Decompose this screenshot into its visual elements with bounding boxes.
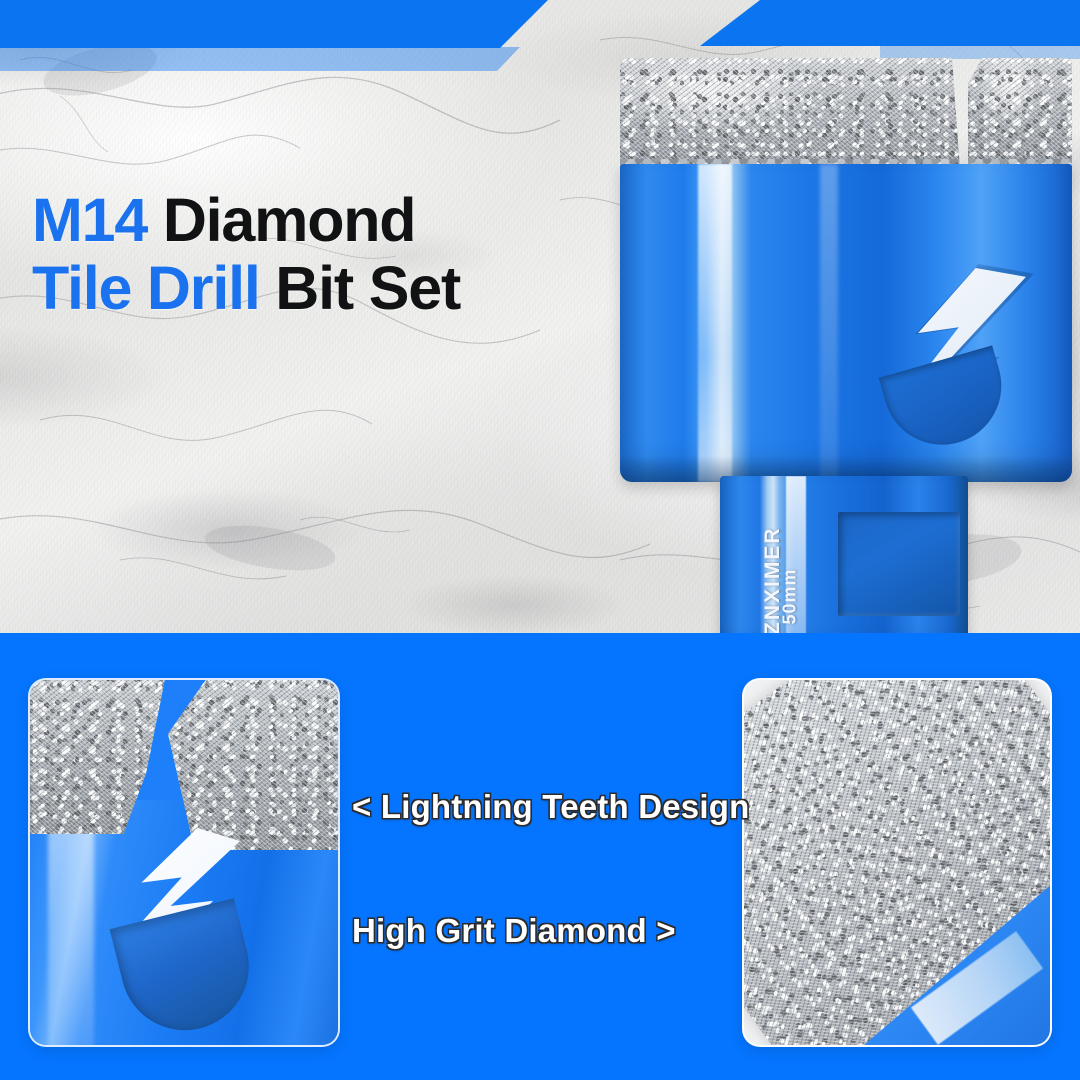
top-banner-left (0, 0, 548, 48)
size-label: 50mm (780, 505, 801, 625)
hero-section: M14 Diamond Tile Drill Bit Set (0, 0, 1080, 633)
feature-card-high-grit (742, 678, 1052, 1047)
barrel-highlight (698, 164, 732, 482)
top-banner-left-fade (0, 47, 520, 71)
shank-wrench-flat (838, 512, 960, 616)
barrel-highlight-secondary (820, 164, 838, 482)
feature-panel: < Lightning Teeth Design High Grit Diamo… (0, 633, 1080, 1080)
headline-rest-bit-set: Bit Set (260, 254, 461, 322)
card-left-highlight (48, 810, 94, 1047)
headline-rest-diamond: Diamond (147, 186, 415, 254)
headline-line-2: Tile Drill Bit Set (32, 254, 632, 322)
callout-high-grit-diamond: High Grit Diamond > (352, 912, 676, 950)
product-marketing-image: M14 Diamond Tile Drill Bit Set (0, 0, 1080, 1080)
feature-card-lightning-teeth (28, 678, 340, 1047)
callout-lightning-teeth: < Lightning Teeth Design (352, 788, 749, 826)
top-banner-right (700, 0, 1080, 46)
shank-label-group: ZNXIMER 50mm (726, 492, 822, 633)
headline-line-1: M14 Diamond (32, 186, 632, 254)
grit-fine-texture-4 (168, 678, 340, 850)
headline-highlight-m14: M14 (32, 186, 147, 254)
grit-fine-texture-2 (968, 58, 1072, 170)
diamond-grit-crown-segment (968, 58, 1072, 170)
headline-highlight-tile-drill: Tile Drill (32, 254, 260, 322)
card-left-grit-right (168, 678, 340, 850)
m14-hex-shank: ZNXIMER 50mm (720, 476, 968, 633)
page-title: M14 Diamond Tile Drill Bit Set (32, 186, 632, 323)
blue-barrel (620, 164, 1072, 482)
lightning-slot-tail (879, 345, 1016, 458)
product-image-main: ZNXIMER 50mm (612, 52, 1080, 632)
